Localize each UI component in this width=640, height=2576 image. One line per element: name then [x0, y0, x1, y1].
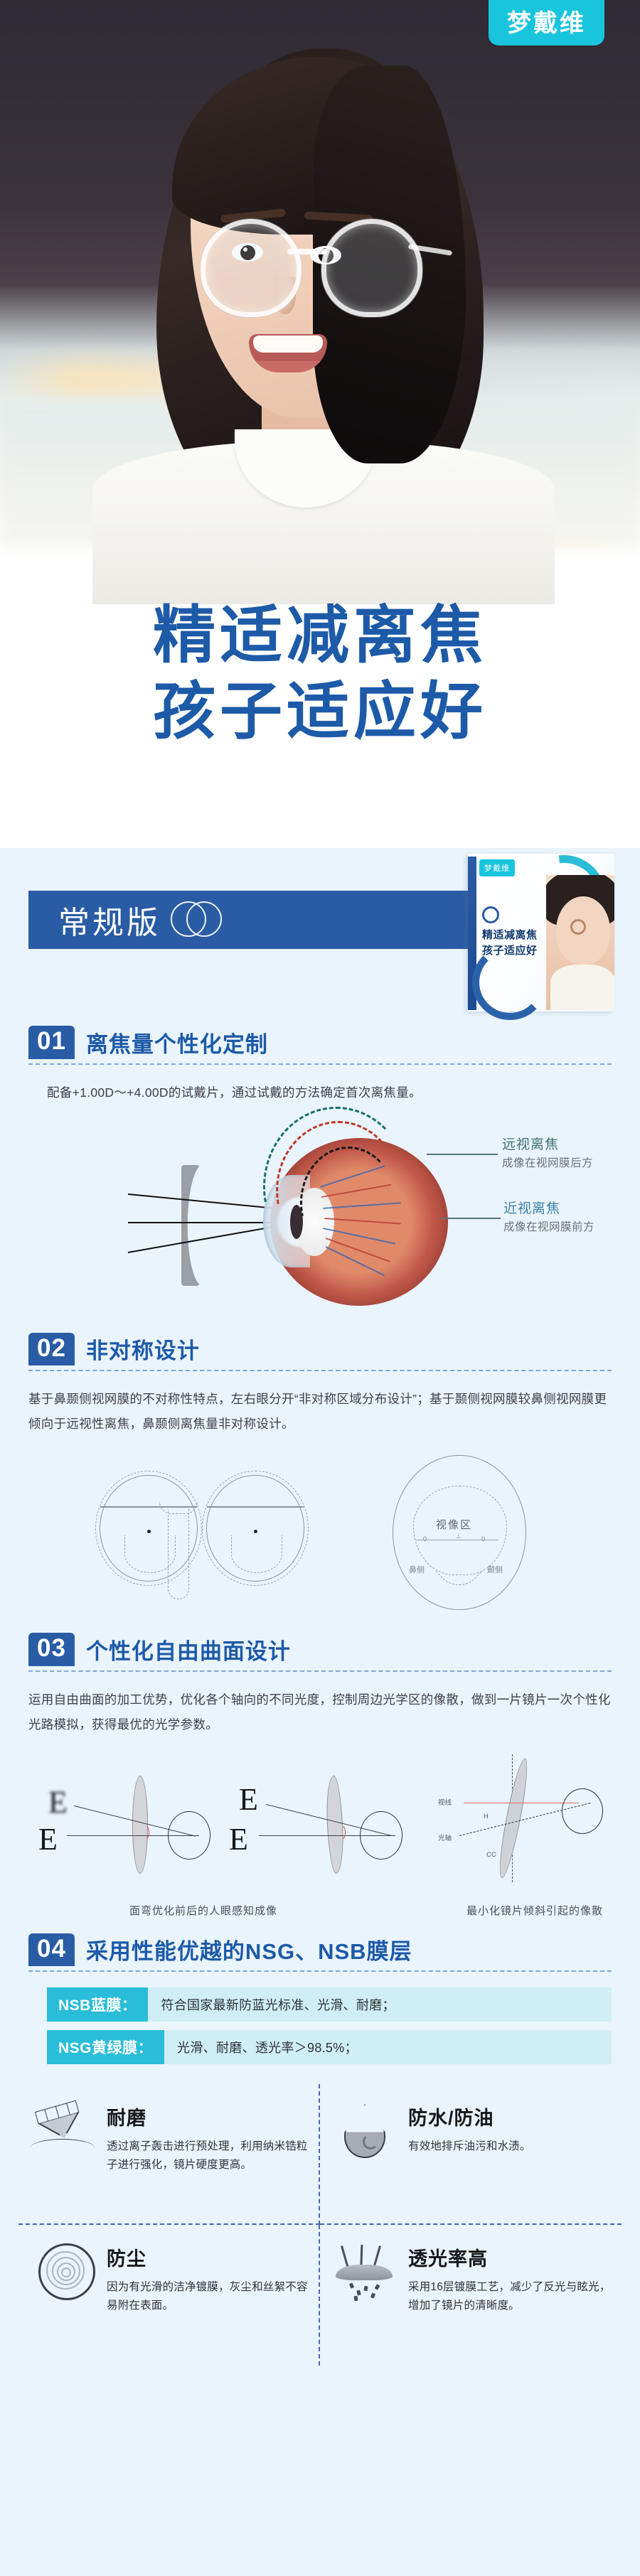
eye-outline-3 [562, 1788, 603, 1834]
ray-axial-1 [67, 1835, 199, 1836]
hyperopic-sub: 成像在视网膜后方 [502, 1154, 593, 1170]
axis-line [416, 1540, 498, 1540]
fingerprint-shape [38, 2243, 95, 2300]
vision-zone-diagram: 视像区 0 ⊥ 0 鼻侧 颞侧 [393, 1455, 526, 1610]
water-drop-shape [344, 2104, 385, 2158]
section-02: 02 非对称设计 基于鼻颞侧视网膜的不对称性特点，左右眼分开“非对称区域分布设计… [0, 1333, 640, 1628]
feature-title-dustproof: 防尘 [107, 2243, 309, 2271]
section-03-number: 03 [28, 1633, 75, 1666]
letter-e-blurred: E [48, 1784, 68, 1820]
mouth [249, 334, 327, 372]
hero-title-line1: 精适减离焦 [0, 597, 640, 673]
sightline [464, 1803, 579, 1803]
feature-title-waterproof: 防水/防油 [408, 2103, 612, 2130]
height-label: H [484, 1813, 489, 1820]
film-desc-nsg: 光滑、耐磨、透光率＞98.5%； [164, 2030, 612, 2064]
version-label: 常规版 [58, 897, 161, 943]
version-row: 常规版 梦戴维 精适减离焦 孩子适应好 [0, 848, 640, 1026]
feature-grid: 耐磨 透过离子轰击进行预处理，利用纳米锆粒子进行强化，镜片硬度更高。 防水/防油… [18, 2084, 622, 2366]
package-model-photo [546, 875, 614, 1010]
leader-line-hyperopic [427, 1154, 498, 1155]
feature-title-transmission: 透光率高 [408, 2243, 612, 2271]
myopic-title: 近视离焦 [503, 1198, 594, 1217]
section-01-number: 01 [28, 1026, 75, 1059]
content-section: 常规版 梦戴维 精适减离焦 孩子适应好 [0, 848, 640, 2407]
section-04-header: 04 采用性能优越的NSG、NSB膜层 [28, 1933, 612, 1967]
feature-desc-transmission: 采用16层镀膜工艺，减少了反光与眩光，增加了镜片的清晰度。 [408, 2278, 612, 2314]
feature-desc-waterproof: 有效地排斥油污和水渍。 [408, 2137, 612, 2156]
temporal-label: 颞侧 [487, 1564, 503, 1575]
feature-text-waterproof: 防水/防油 有效地排斥油污和水渍。 [408, 2100, 612, 2156]
feature-desc-dustproof: 因为有光滑的洁净镀膜，灰尘和丝絮不容易附在表面。 [107, 2278, 309, 2314]
package-text-line2: 孩子适应好 [482, 943, 538, 959]
caption-right: 最小化镜片倾斜引起的像散 [466, 1903, 603, 1918]
cc-label: CC [486, 1851, 496, 1859]
glasses-bridge [287, 249, 327, 254]
angle-arc-2 [334, 1824, 346, 1841]
caption-left: 面弯优化前后的人眼感知成像 [129, 1903, 277, 1918]
angle-arc-1 [138, 1824, 149, 1841]
nasal-label: 鼻侧 [409, 1564, 425, 1575]
section-01-title: 离焦量个性化定制 [86, 1033, 268, 1059]
asymmetric-design-diagram: 视像区 0 ⊥ 0 鼻侧 颞侧 [28, 1449, 612, 1627]
freeform-optics-diagram: E E E E 面弯优化前后的人眼感知成像 [28, 1744, 612, 1922]
feature-text-abrasion: 耐磨 透过离子轰击进行预处理，利用纳米锆粒子进行强化，镜片硬度更高。 [107, 2100, 309, 2174]
optical-axis-label: 光轴 [438, 1832, 452, 1842]
axis-right-label: 0 [481, 1535, 486, 1542]
film-desc-nsb: 符合国家最新防蓝光标准、光滑、耐磨； [148, 1987, 612, 2022]
section-02-number: 02 [28, 1333, 75, 1366]
lower-lip [249, 361, 327, 372]
feature-card-abrasion: 耐磨 透过离子轰击进行预处理，利用纳米锆粒子进行强化，镜片硬度更高。 [18, 2084, 320, 2225]
spectacle-lens-right [206, 1475, 304, 1582]
section-02-body: 基于鼻颞侧视网膜的不对称性特点，左右眼分开“非对称区域分布设计”；基于颞侧视网膜… [28, 1387, 612, 1437]
lens-stem-outline [168, 1509, 189, 1599]
letter-e-sharp-left: E [38, 1821, 58, 1857]
section-02-header: 02 非对称设计 [28, 1333, 612, 1366]
brand-logo: 梦戴维 [489, 0, 604, 45]
hero-title-group: 精适减离焦 孩子适应好 [0, 597, 640, 750]
film-row-nsb: NSB蓝膜： 符合国家最新防蓝光标准、光滑、耐磨； [47, 1987, 612, 2022]
film-tag-nsb: NSB蓝膜： [47, 1987, 148, 2022]
lens-right [321, 219, 422, 317]
feature-text-dustproof: 防尘 因为有光滑的洁净镀膜，灰尘和丝絮不容易附在表面。 [107, 2240, 309, 2314]
section-02-title: 非对称设计 [86, 1339, 200, 1365]
version-banner: 常规版 [28, 891, 484, 949]
ray-axial-2 [259, 1835, 395, 1836]
defocus-eye-diagram: 远视离焦 成像在视网膜后方 近视离焦 成像在视网膜前方 [28, 1110, 612, 1323]
section-03-title: 个性化自由曲面设计 [86, 1640, 291, 1666]
feature-card-waterproof: 防水/防油 有效地排斥油污和水渍。 [320, 2084, 622, 2225]
section-04-title: 采用性能优越的NSG、NSB膜层 [86, 1940, 412, 1966]
hero-section: 梦戴维 精适减离焦 孩子适应好 [0, 0, 640, 848]
light-rays-shape [336, 2245, 393, 2302]
surface-curve [30, 2139, 95, 2158]
package-front: 梦戴维 精适减离焦 孩子适应好 [468, 854, 614, 1011]
section-01-divider [28, 1063, 612, 1065]
feature-card-transmission: 透光率高 采用16层镀膜工艺，减少了反光与眩光，增加了镜片的清晰度。 [320, 2225, 622, 2366]
section-04-divider [28, 1970, 612, 1972]
feature-card-dustproof: 防尘 因为有光滑的洁净镀膜，灰尘和丝絮不容易附在表面。 [18, 2225, 320, 2366]
package-logo: 梦戴维 [479, 859, 515, 876]
feature-desc-abrasion: 透过离子轰击进行预处理，利用纳米锆粒子进行强化，镜片硬度更高。 [107, 2137, 309, 2174]
leader-line-myopic [441, 1218, 501, 1219]
label-myopic-defocus: 近视离焦 成像在视网膜前方 [503, 1198, 594, 1234]
section-01-header: 01 离焦量个性化定制 [28, 1026, 612, 1059]
section-03-header: 03 个性化自由曲面设计 [28, 1633, 612, 1666]
package-ring-icon [482, 906, 499, 923]
fingerprint-icon [28, 2240, 97, 2306]
section-03: 03 个性化自由曲面设计 运用自由曲面的加工优势，优化各个轴向的不同光度，控制周… [0, 1633, 640, 1922]
light-transmission-icon [330, 2240, 398, 2306]
feature-title-abrasion: 耐磨 [107, 2103, 309, 2130]
defocus-zone-right [231, 1535, 282, 1573]
teeth [253, 336, 323, 353]
film-row-nsg: NSG黄绿膜： 光滑、耐磨、透光率＞98.5%； [47, 2030, 612, 2064]
myopic-sub: 成像在视网膜前方 [503, 1218, 594, 1234]
optical-center-dot-right [254, 1530, 257, 1533]
letter-e-sharp-top: E [239, 1781, 258, 1818]
package-text-line1: 精适减离焦 [482, 928, 538, 943]
letter-e-sharp-bottom: E [229, 1821, 248, 1857]
diamond-icon [28, 2100, 97, 2165]
section-03-body: 运用自由曲面的加工优势，优化各个轴向的不同光度，控制周边光学区的像散，做到一片镜… [28, 1687, 612, 1737]
model-photo-girl [135, 43, 512, 554]
section-04: 04 采用性能优越的NSG、NSB膜层 NSB蓝膜： 符合国家最新防蓝光标准、光… [0, 1933, 640, 2065]
concave-lens-shape [181, 1165, 200, 1286]
label-hyperopic-defocus: 远视离焦 成像在视网膜后方 [502, 1134, 593, 1170]
bottom-spacer [0, 2366, 640, 2378]
sightline-label: 视线 [438, 1797, 452, 1807]
feature-text-transmission: 透光率高 采用16层镀膜工艺，减少了反光与眩光，增加了镜片的清晰度。 [408, 2240, 612, 2314]
marketing-page: 梦戴维 精适减离焦 孩子适应好 常规版 梦戴维 [0, 0, 640, 2407]
axis-left-label: 0 [423, 1535, 427, 1542]
film-tag-nsg: NSG黄绿膜： [47, 2030, 164, 2064]
package-text: 精适减离焦 孩子适应好 [482, 928, 538, 959]
hyperopic-title: 远视离焦 [502, 1134, 593, 1153]
section-01-body: 配备+1.00D～+4.00D的试戴片，通过试戴的方法确定首次离焦量。 [28, 1080, 612, 1105]
eyeglasses [201, 219, 435, 318]
optical-center-dot-left [147, 1530, 151, 1533]
diamond-shape [35, 2100, 85, 2144]
vision-zone-label: 视像区 [436, 1517, 472, 1532]
section-01: 01 离焦量个性化定制 配备+1.00D～+4.00D的试戴片，通过试戴的方法确… [0, 1026, 640, 1323]
section-04-number: 04 [28, 1933, 75, 1967]
section-03-divider [28, 1670, 612, 1672]
lens-left [201, 219, 302, 317]
section-02-divider [28, 1370, 612, 1371]
двойной-circles-icon [171, 901, 223, 938]
water-drop-icon [330, 2100, 398, 2165]
hero-title-line2: 孩子适应好 [0, 673, 640, 749]
product-package-image: 梦戴维 精适减离焦 孩子适应好 [462, 854, 620, 1017]
